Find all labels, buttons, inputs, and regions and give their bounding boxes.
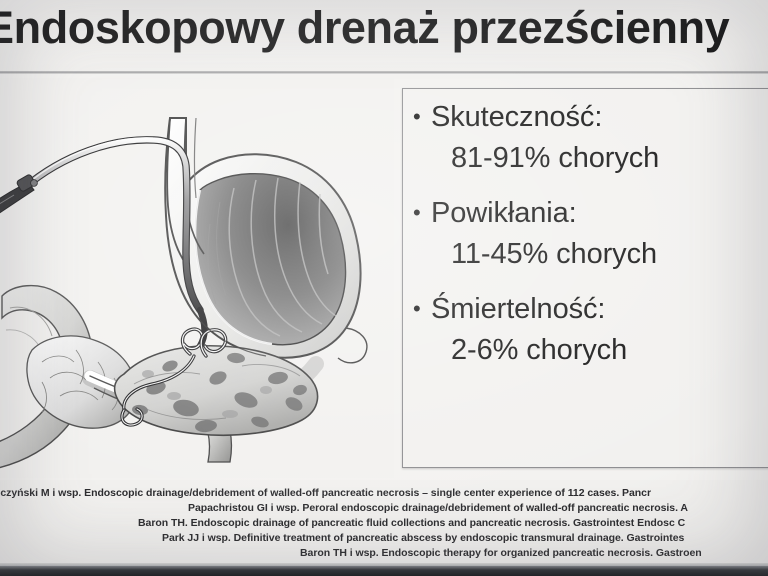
page-title: Endoskopowy drenaż przezścienny: [0, 0, 768, 60]
list-item: • Skuteczność: 81-91% chorych: [403, 97, 768, 179]
presentation-slide: Endoskopowy drenaż przezścienny: [0, 0, 768, 576]
references-block: oczyński M i wsp. Endoscopic drainage/de…: [0, 480, 768, 568]
reference-line: Papachristou GI i wsp. Peroral endoscopi…: [0, 501, 768, 516]
reference-line: oczyński M i wsp. Endoscopic drainage/de…: [0, 486, 762, 501]
bullet-efficacy-head: • Skuteczność:: [403, 97, 768, 137]
bullet-mortality-label: Śmiertelność:: [431, 289, 605, 329]
bullet-dot-icon: •: [413, 106, 431, 128]
bullet-complications-value: 11-45% chorych: [403, 233, 768, 275]
anatomy-illustration-svg: [0, 78, 394, 478]
reference-line: Park JJ i wsp. Definitive treatment of p…: [0, 531, 768, 546]
key-outcomes-box: • Skuteczność: 81-91% chorych • Powikłan…: [402, 88, 768, 468]
title-separator-rule: [0, 71, 768, 74]
reference-line: Baron TH i wsp. Endoscopic therapy for o…: [0, 546, 768, 561]
bullet-dot-icon: •: [413, 298, 431, 320]
screen-bottom-edge: [0, 566, 768, 576]
slide-title-band: Endoskopowy drenaż przezścienny: [0, 0, 768, 72]
bullet-dot-icon: •: [413, 202, 431, 224]
list-item: • Powikłania: 11-45% chorych: [403, 193, 768, 275]
anatomy-illustration: [0, 78, 394, 478]
bullet-complications-head: • Powikłania:: [403, 193, 768, 233]
bullet-complications-label: Powikłania:: [431, 193, 577, 233]
outcomes-list: • Skuteczność: 81-91% chorych • Powikłan…: [403, 89, 768, 371]
bullet-mortality-head: • Śmiertelność:: [403, 289, 768, 329]
bullet-efficacy-label: Skuteczność:: [431, 97, 602, 137]
bullet-efficacy-value: 81-91% chorych: [403, 137, 768, 179]
reference-line: Baron TH. Endoscopic drainage of pancrea…: [0, 516, 768, 531]
list-item: • Śmiertelność: 2-6% chorych: [403, 289, 768, 371]
bullet-mortality-value: 2-6% chorych: [403, 329, 768, 371]
